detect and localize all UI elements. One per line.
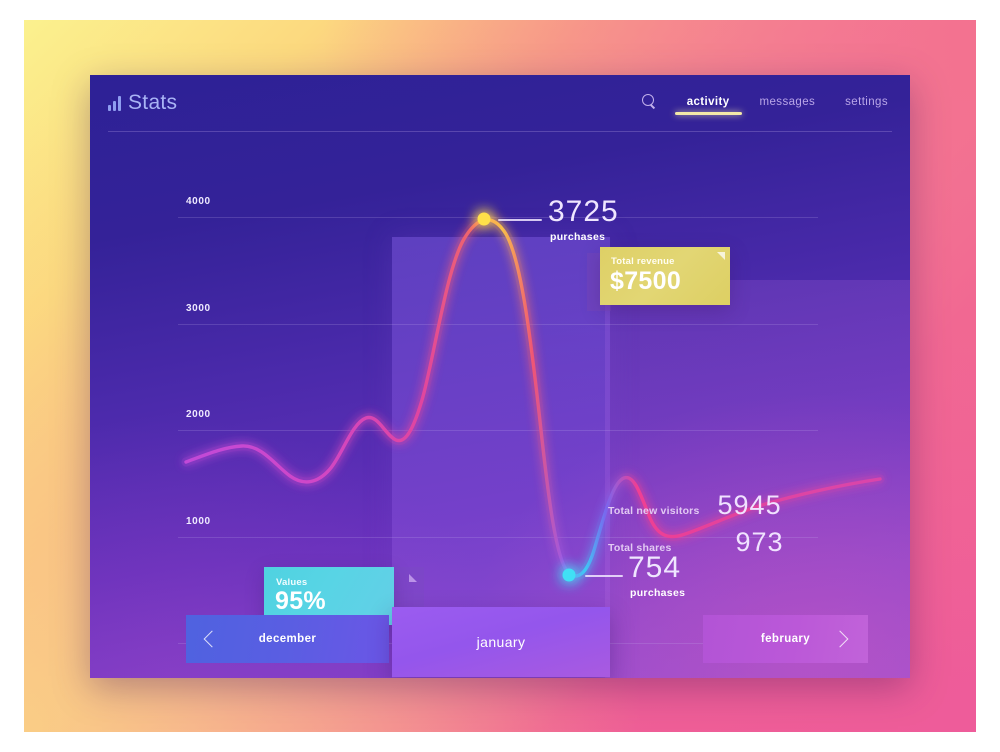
app-header: Stats activity messages settings	[90, 75, 910, 135]
main-nav: activity messages settings	[642, 94, 888, 120]
trough-point-marker[interactable]	[563, 569, 576, 582]
chevron-right-icon	[832, 631, 849, 648]
month-prev-button[interactable]: december	[186, 615, 389, 663]
peak-leader-line	[498, 219, 542, 221]
stat-label: Total shares	[608, 542, 671, 554]
peak-annotation: 3725 purchases	[548, 197, 619, 243]
dashboard-card: Stats activity messages settings	[90, 75, 910, 678]
peak-point-marker[interactable]	[478, 213, 491, 226]
peak-value: 3725	[548, 197, 619, 227]
stat-value: 5945	[718, 490, 782, 521]
month-current-button[interactable]: january	[392, 607, 610, 677]
month-next-label: february	[761, 633, 810, 645]
nav-item-activity[interactable]: activity	[687, 96, 730, 119]
brand-label: Stats	[128, 91, 177, 115]
peak-unit: purchases	[550, 231, 619, 243]
stat-label: Total new visitors	[608, 505, 700, 517]
search-handle	[651, 104, 656, 109]
nav-item-messages[interactable]: messages	[760, 96, 816, 119]
stat-value: 973	[735, 527, 783, 558]
bar-chart-icon	[108, 96, 121, 111]
month-prev-label: december	[259, 633, 317, 645]
stat-total-shares: Total shares 973	[608, 527, 784, 558]
purchases-line-chart	[90, 135, 910, 678]
trough-annotation: 754 purchases	[628, 553, 685, 599]
month-navigation: december february january	[90, 615, 910, 678]
total-revenue-label: Total revenue	[611, 256, 675, 267]
trough-unit: purchases	[630, 587, 685, 599]
triangle-corner-icon	[717, 252, 725, 260]
chevron-left-icon	[204, 631, 221, 648]
stat-total-new-visitors: Total new visitors 5945	[608, 490, 782, 521]
month-current-label: january	[477, 634, 526, 650]
search-icon[interactable]	[642, 94, 657, 109]
total-revenue-value: $7500	[610, 267, 681, 296]
brand-logo: Stats	[108, 91, 177, 115]
values-value: 95%	[275, 587, 326, 616]
total-revenue-card[interactable]: Total revenue $7500	[600, 247, 730, 305]
month-next-button[interactable]: february	[703, 615, 868, 663]
triangle-corner-icon	[409, 574, 417, 582]
chart-area: 4000 3000 2000 1000 0	[90, 135, 910, 678]
page-root: Stats activity messages settings	[0, 0, 1000, 752]
curve-halo	[186, 220, 880, 576]
trough-leader-line	[585, 575, 623, 577]
nav-item-settings[interactable]: settings	[845, 96, 888, 119]
header-divider	[108, 131, 892, 132]
